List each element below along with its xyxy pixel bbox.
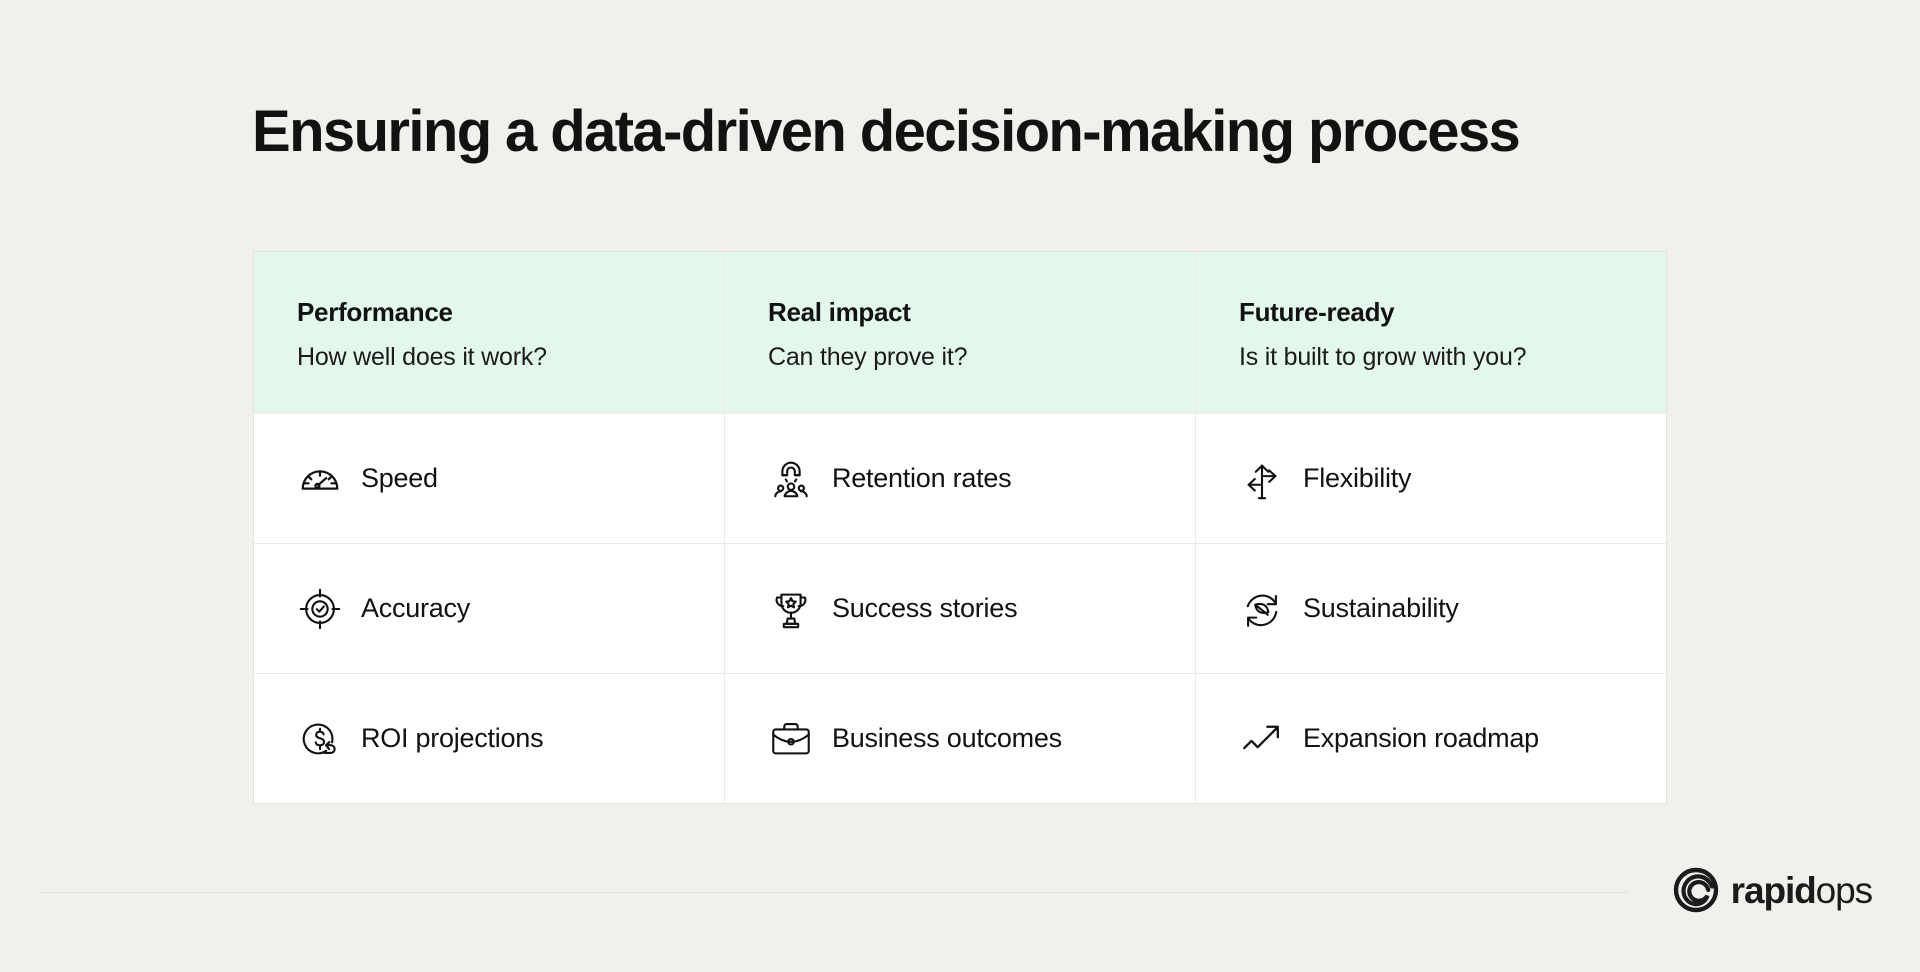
magnet-people-icon bbox=[768, 456, 814, 502]
dollar-return-icon bbox=[297, 716, 343, 762]
rapidops-logo: rapidops bbox=[1672, 866, 1872, 914]
table-cell-sustainability: Sustainability bbox=[1196, 544, 1666, 673]
table-cell-speed: Speed bbox=[254, 414, 725, 543]
rapidops-wordmark: rapidops bbox=[1731, 872, 1872, 909]
footer-divider bbox=[38, 892, 1628, 893]
column-subtitle: Is it built to grow with you? bbox=[1239, 341, 1526, 374]
multi-direction-arrows-icon bbox=[1239, 456, 1285, 502]
column-subtitle: How well does it work? bbox=[297, 341, 547, 374]
table-cell-business-outcomes: Business outcomes bbox=[725, 674, 1196, 803]
table-header-cell-real-impact: Real impact Can they prove it? bbox=[725, 252, 1196, 413]
logo-name-light: ops bbox=[1816, 870, 1872, 911]
item-label: Sustainability bbox=[1303, 593, 1459, 624]
speedometer-icon bbox=[297, 456, 343, 502]
item-label: Expansion roadmap bbox=[1303, 723, 1539, 754]
item-label: Flexibility bbox=[1303, 463, 1411, 494]
table-row: Accuracy Success stories bbox=[254, 543, 1666, 673]
table-cell-accuracy: Accuracy bbox=[254, 544, 725, 673]
slide-canvas: Ensuring a data-driven decision-making p… bbox=[0, 0, 1920, 972]
target-check-icon bbox=[297, 586, 343, 632]
item-label: Accuracy bbox=[361, 593, 470, 624]
item-label: Success stories bbox=[832, 593, 1017, 624]
table-cell-expansion-roadmap: Expansion roadmap bbox=[1196, 674, 1666, 803]
column-subtitle: Can they prove it? bbox=[768, 341, 967, 374]
page-title: Ensuring a data-driven decision-making p… bbox=[252, 100, 1519, 165]
table-row: Speed bbox=[254, 413, 1666, 543]
briefcase-icon bbox=[768, 716, 814, 762]
column-title: Performance bbox=[297, 296, 453, 330]
table-header-cell-future-ready: Future-ready Is it built to grow with yo… bbox=[1196, 252, 1666, 413]
column-title: Real impact bbox=[768, 296, 911, 330]
item-label: Speed bbox=[361, 463, 438, 494]
table-header-row: Performance How well does it work? Real … bbox=[254, 252, 1666, 413]
rapidops-spiral-icon bbox=[1672, 866, 1720, 914]
table-cell-roi-projections: ROI projections bbox=[254, 674, 725, 803]
table-cell-retention-rates: Retention rates bbox=[725, 414, 1196, 543]
leaf-recycle-icon bbox=[1239, 586, 1285, 632]
item-label: ROI projections bbox=[361, 723, 543, 754]
item-label: Retention rates bbox=[832, 463, 1011, 494]
table-cell-flexibility: Flexibility bbox=[1196, 414, 1666, 543]
table-row: ROI projections Business outcomes bbox=[254, 673, 1666, 803]
table-cell-success-stories: Success stories bbox=[725, 544, 1196, 673]
logo-name-bold: rapid bbox=[1731, 870, 1816, 911]
trophy-star-icon bbox=[768, 586, 814, 632]
trending-up-icon bbox=[1239, 716, 1285, 762]
table-header-cell-performance: Performance How well does it work? bbox=[254, 252, 725, 413]
item-label: Business outcomes bbox=[832, 723, 1062, 754]
column-title: Future-ready bbox=[1239, 296, 1394, 330]
comparison-table: Performance How well does it work? Real … bbox=[253, 251, 1667, 804]
